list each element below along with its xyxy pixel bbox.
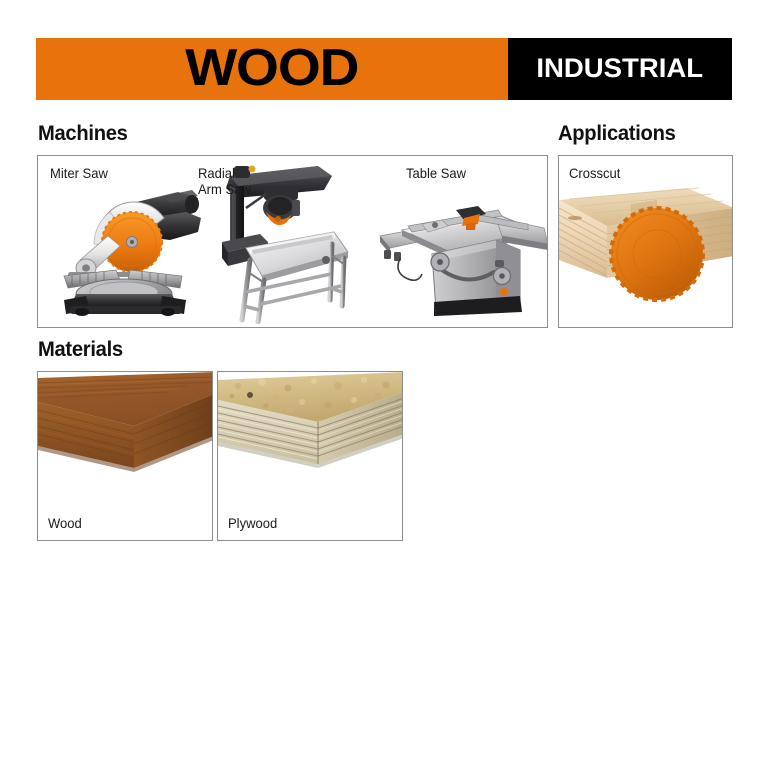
table-saw-icon [378,184,548,319]
section-heading-applications: Applications [558,122,676,146]
plywood-block-icon [218,372,402,477]
page-title: WOOD [185,42,358,97]
header-category-label: INDUSTRIAL [537,53,704,86]
miter-saw-icon [46,176,206,321]
section-heading-materials: Materials [38,338,123,362]
machine-label-table-saw: Table Saw [406,166,466,182]
crosscut-blade-icon [559,182,732,327]
machine-label-radial-arm-saw: Radial Arm Saw [198,166,251,197]
application-label-crosscut: Crosscut [569,166,620,182]
page-header: WOOD INDUSTRIAL [36,38,732,100]
section-heading-machines: Machines [38,122,128,146]
header-main-band: WOOD [36,38,508,100]
machine-label-miter-saw: Miter Saw [50,166,108,182]
hardwood-block-icon [38,372,212,477]
applications-panel: Crosscut [558,155,733,328]
material-panel-wood: Wood [37,371,213,541]
header-side-band: INDUSTRIAL [508,38,732,100]
material-label-wood: Wood [48,516,82,532]
material-panel-plywood: Plywood [217,371,403,541]
machines-panel: Miter Saw Radial Arm Saw Table Saw [37,155,548,328]
material-label-plywood: Plywood [228,516,277,532]
